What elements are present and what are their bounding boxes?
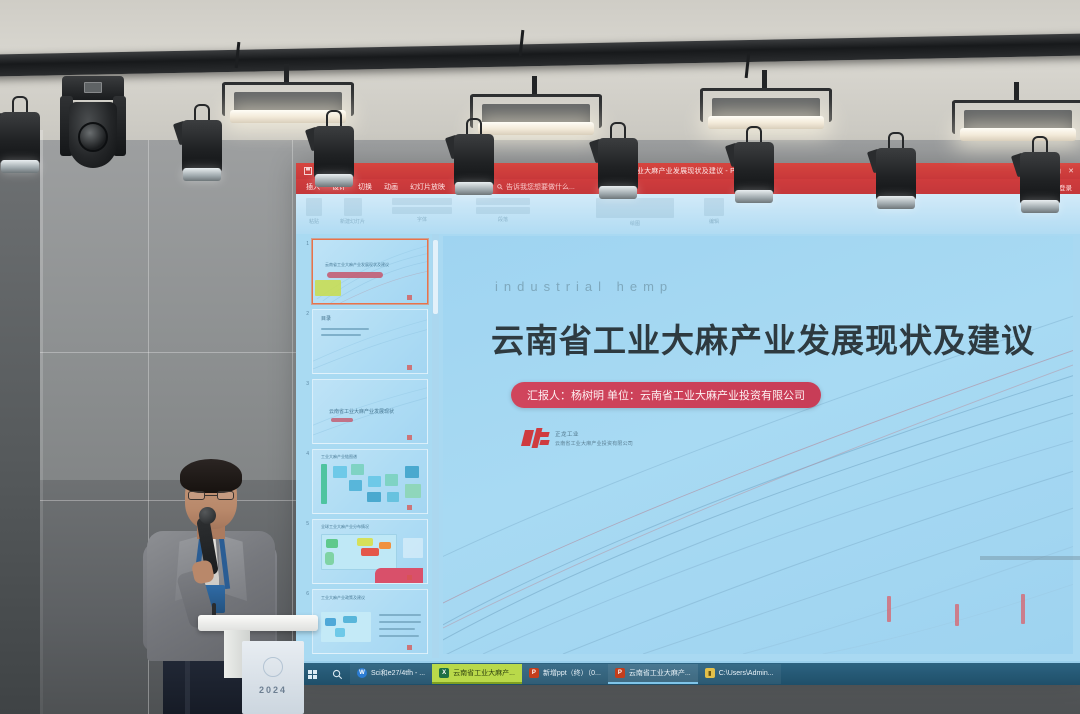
par-can-light — [180, 104, 224, 190]
document-title: 云南省工业大麻产业发展现状及建议 - PowerPoint — [296, 166, 1080, 176]
thumbnail-logo — [407, 575, 423, 580]
thumbnail-slide-5[interactable]: 全球工业大麻产业分布情况 — [312, 519, 428, 584]
ribbon-tab-transition[interactable]: 切换 — [358, 182, 372, 192]
windows-taskbar[interactable]: W Sci和e27/4tfh - ... X 云南省工业大麻产... P 新增p… — [296, 663, 1080, 685]
map-region — [379, 542, 391, 549]
thumbnail-logo — [407, 505, 423, 510]
thumbnail-slide-4[interactable]: 工业大麻产业链图谱 — [312, 449, 428, 514]
eyeglasses — [188, 491, 234, 500]
app-icon-excel: X — [439, 668, 449, 678]
thumbnail-logo — [407, 435, 423, 440]
wall-tile-seam — [0, 352, 296, 353]
slide-eyebrow-text: industrial hemp — [495, 279, 673, 294]
microphone-capsule-icon — [199, 507, 216, 524]
app-icon-browser: W — [357, 668, 367, 678]
logo-mark-icon — [523, 428, 549, 448]
map-legend — [403, 538, 423, 558]
map-region — [343, 616, 357, 623]
slide-title: 云南省工业大麻产业发展现状及建议 — [491, 314, 1035, 362]
trouser-seam — [185, 661, 190, 714]
taskbar-item-ppt-1[interactable]: P 新增ppt（终）（0... — [522, 664, 608, 684]
podium-emblem-icon — [263, 657, 283, 677]
thumbnail-slide-3[interactable]: 云南省工业大麻产业发展现状 — [312, 379, 428, 444]
logo-line-2: 云南省工业大麻产业投资有限公司 — [555, 440, 633, 447]
flowchart-node — [349, 480, 362, 491]
thumbnail-row[interactable]: 2 目录 — [304, 309, 428, 374]
podium-desktop — [198, 615, 318, 631]
par-can-light — [452, 118, 496, 204]
bullet-line — [379, 614, 421, 616]
speaker-hair — [180, 459, 242, 493]
thumbnail-logo — [407, 645, 423, 650]
taskbar-item-folder[interactable]: ▮ C:\Users\Admin... — [698, 664, 781, 684]
flowchart-node — [387, 492, 399, 502]
tell-me-search[interactable]: 告诉我您想要做什么... — [497, 182, 575, 192]
flowchart-node — [385, 474, 398, 486]
par-can-light — [596, 122, 640, 208]
scrollbar-thumb[interactable] — [433, 240, 438, 314]
flowchart-node — [351, 464, 364, 475]
thumbnail-slide-2[interactable]: 目录 — [312, 309, 428, 374]
thumbnail-title: 云南省工业大麻产业发展现状 — [329, 408, 394, 415]
wall-column — [0, 130, 40, 714]
taskbar-item-label: 云南省工业大麻产... — [453, 668, 515, 678]
thumbnail-row[interactable]: 3 云南省工业大麻产业发展现状 — [304, 379, 428, 444]
taskbar-item-label: 云南省工业大麻产... — [629, 668, 691, 678]
powerpoint-titlebar: 云南省工业大麻产业发展现状及建议 - PowerPoint — ▢ ✕ — [296, 163, 1080, 179]
search-icon — [497, 184, 503, 190]
taskbar-item-label: Sci和e27/4tfh - ... — [371, 668, 425, 678]
par-can-light — [1018, 136, 1062, 222]
ribbon-group-newslide[interactable]: 新建幻灯片 — [340, 198, 365, 225]
par-can-light — [312, 110, 356, 196]
logo-line-1: 正龙工业 — [555, 430, 633, 438]
ribbon-group-paste[interactable]: 粘贴 — [306, 198, 322, 225]
flowchart-node — [367, 492, 381, 502]
flowchart-node — [368, 476, 381, 487]
bullet-line — [379, 635, 419, 637]
podium-front-panel: 2024 — [242, 641, 304, 714]
thumbnail-slide-6[interactable]: 工业大麻产业政策及建议 — [312, 589, 428, 654]
wall-edge-highlight — [40, 130, 43, 714]
tell-me-placeholder: 告诉我您想要做什么... — [506, 182, 575, 192]
thumbnail-title: 云南省工业大麻产业发展现状及建议 — [325, 262, 389, 268]
thumbnail-logo — [407, 295, 423, 300]
ribbon-tab-animation[interactable]: 动画 — [384, 182, 398, 192]
par-can-light — [874, 132, 918, 218]
thumbnail-logo — [407, 365, 423, 370]
thumbnail-title: 目录 — [321, 315, 331, 322]
ribbon-body[interactable]: 粘贴 新建幻灯片 字体 段落 绘图 编辑 — [296, 194, 1080, 234]
close-icon[interactable]: ✕ — [1068, 167, 1074, 175]
par-can-light — [0, 96, 42, 182]
accent-bar — [1021, 594, 1025, 624]
search-icon — [332, 669, 343, 680]
map-region — [357, 538, 373, 546]
flowchart-node — [333, 466, 347, 478]
ribbon-group-font[interactable]: 字体 — [392, 198, 452, 223]
podium-year-label: 2024 — [242, 685, 304, 695]
company-logo: 正龙工业 云南省工业大麻产业投资有限公司 — [523, 428, 633, 448]
bullet-line — [379, 628, 415, 630]
map-region — [361, 548, 379, 556]
taskbar-item-excel[interactable]: X 云南省工业大麻产... — [432, 664, 522, 684]
thumbnail-textline — [321, 334, 361, 336]
flowchart-node — [405, 466, 419, 478]
floor-edge — [980, 556, 1080, 560]
ribbon-group-editing[interactable]: 编辑 — [704, 198, 724, 225]
taskbar-item-ppt-2[interactable]: P 云南省工业大麻产... — [608, 664, 698, 684]
moving-head-light — [56, 76, 130, 184]
thumbnail-number: 3 — [304, 379, 309, 387]
app-icon-folder: ▮ — [705, 668, 715, 678]
projection-screen: 云南省工业大麻产业发展现状及建议 - PowerPoint — ▢ ✕ 插入 设… — [296, 163, 1080, 675]
thumbnail-textline — [321, 328, 369, 330]
accent-bar — [955, 604, 959, 626]
par-can-light — [732, 126, 776, 212]
thumbnail-pill — [327, 272, 383, 278]
ribbon-tab-strip[interactable]: 插入 设计 切换 动画 幻灯片放映 审阅 告诉我您想要做什么... 登录 — [296, 179, 1080, 194]
accent-bar — [887, 596, 891, 622]
thumbnail-highlight — [315, 280, 341, 296]
bullet-line — [379, 621, 421, 623]
thumbnail-number: 1 — [304, 239, 309, 247]
ribbon-tab-slideshow[interactable]: 幻灯片放映 — [410, 182, 445, 192]
thumbnail-pill — [331, 418, 353, 422]
taskbar-item-label: C:\Users\Admin... — [719, 670, 774, 677]
flowchart-node — [405, 484, 421, 498]
app-icon-powerpoint: P — [529, 668, 539, 678]
photo-scene: 云南省工业大麻产业发展现状及建议 - PowerPoint — ▢ ✕ 插入 设… — [0, 0, 1080, 714]
thumbnail-slide-1[interactable]: 云南省工业大麻产业发展现状及建议 — [312, 239, 428, 304]
lectern-podium: 2024 — [198, 615, 318, 714]
thumbnail-number: 2 — [304, 309, 309, 317]
map-region — [335, 628, 345, 637]
taskbar-item-label: 新增ppt（终）（0... — [543, 668, 601, 678]
slide-canvas[interactable]: industrial hemp 云南省工业大麻产业发展现状及建议 汇报人：杨树明… — [443, 236, 1073, 654]
app-icon-powerpoint: P — [615, 668, 625, 678]
taskbar-item-browser[interactable]: W Sci和e27/4tfh - ... — [350, 664, 432, 684]
thumbnail-scrollbar[interactable] — [432, 234, 439, 658]
presenter-pill: 汇报人：杨树明 单位：云南省工业大麻产业投资有限公司 — [511, 382, 821, 408]
thumbnail-row[interactable]: 1 云南省工业大麻产业发展现状及建议 — [304, 239, 428, 304]
